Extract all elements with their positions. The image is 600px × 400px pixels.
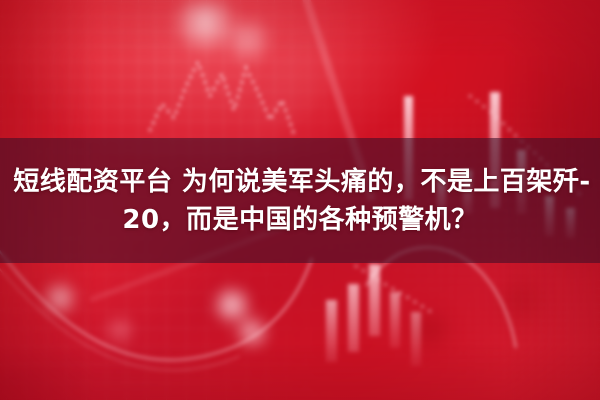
- headline-band: 短线配资平台 为何说美军头痛的，不是上百架歼- 20，而是中国的各种预警机？: [0, 138, 600, 263]
- arc-curve-left-inner: [0, 262, 240, 370]
- dotted-zigzag-line: [150, 62, 294, 134]
- banner-image: 短线配资平台 为何说美军头痛的，不是上百架歼- 20，而是中国的各种预警机？: [0, 0, 600, 400]
- headline-line-2: 20，而是中国的各种预警机？: [122, 201, 477, 239]
- bar-group-lower-right: [326, 264, 421, 366]
- headline-line-1: 短线配资平台 为何说美军头痛的，不是上百架歼-: [9, 163, 590, 201]
- dotted-diagonal-line: [356, 266, 436, 315]
